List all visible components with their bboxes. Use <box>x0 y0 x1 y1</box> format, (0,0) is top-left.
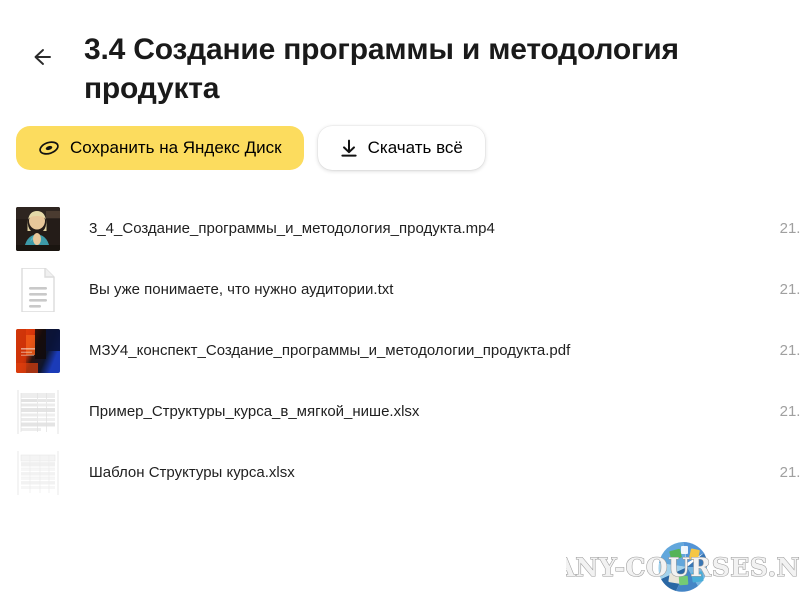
file-date: 21.05.20 <box>764 342 800 359</box>
file-date: 21.05.20 <box>764 281 800 298</box>
table-row[interactable]: Шаблон Структуры курса.xlsx 21.05.20 <box>0 442 800 503</box>
file-name: Шаблон Структуры курса.xlsx <box>60 463 764 483</box>
file-name: 3_4_Создание_программы_и_методология_про… <box>60 219 764 239</box>
file-name: Вы уже понимаете, что нужно аудитории.tx… <box>60 280 764 300</box>
video-thumbnail <box>16 207 60 251</box>
watermark-text: MANY-COURSES.NET <box>566 553 800 582</box>
spreadsheet-blank-thumbnail <box>16 451 60 495</box>
globe-logo <box>658 542 708 592</box>
file-list: 3_4_Создание_программы_и_методология_про… <box>0 198 800 503</box>
save-button-label: Сохранить на Яндекс Диск <box>70 138 282 158</box>
text-document-icon <box>16 268 60 312</box>
arrow-left-icon <box>28 44 54 70</box>
table-row[interactable]: Вы уже понимаете, что нужно аудитории.tx… <box>0 259 800 320</box>
yandex-disk-icon <box>38 139 60 157</box>
download-icon <box>340 139 358 158</box>
back-button[interactable] <box>20 36 62 78</box>
page-root: 3.4 Создание программы и методология про… <box>0 0 800 602</box>
download-all-button[interactable]: Скачать всё <box>318 126 485 170</box>
file-name: Пример_Структуры_курса_в_мягкой_нише.xls… <box>60 402 764 422</box>
file-date: 21.05.20 <box>764 220 800 237</box>
file-date: 21.05.20 <box>764 403 800 420</box>
file-name: МЗУ4_конспект_Создание_программы_и_метод… <box>60 341 764 361</box>
page-title: 3.4 Создание программы и методология про… <box>62 30 744 108</box>
page-header: 3.4 Создание программы и методология про… <box>0 0 800 108</box>
table-row[interactable]: 3_4_Создание_программы_и_методология_про… <box>0 198 800 259</box>
table-row[interactable]: Пример_Структуры_курса_в_мягкой_нише.xls… <box>0 381 800 442</box>
save-to-yandex-disk-button[interactable]: Сохранить на Яндекс Диск <box>16 126 304 170</box>
table-row[interactable]: МЗУ4_конспект_Создание_программы_и_метод… <box>0 320 800 381</box>
action-toolbar: Сохранить на Яндекс Диск Скачать всё <box>0 108 800 170</box>
spreadsheet-thumbnail <box>16 390 60 434</box>
pdf-cover-thumbnail <box>16 329 60 373</box>
download-all-label: Скачать всё <box>368 138 463 158</box>
file-date: 21.05.20 <box>764 464 800 481</box>
watermark: MANY-COURSES.NET <box>566 536 800 598</box>
